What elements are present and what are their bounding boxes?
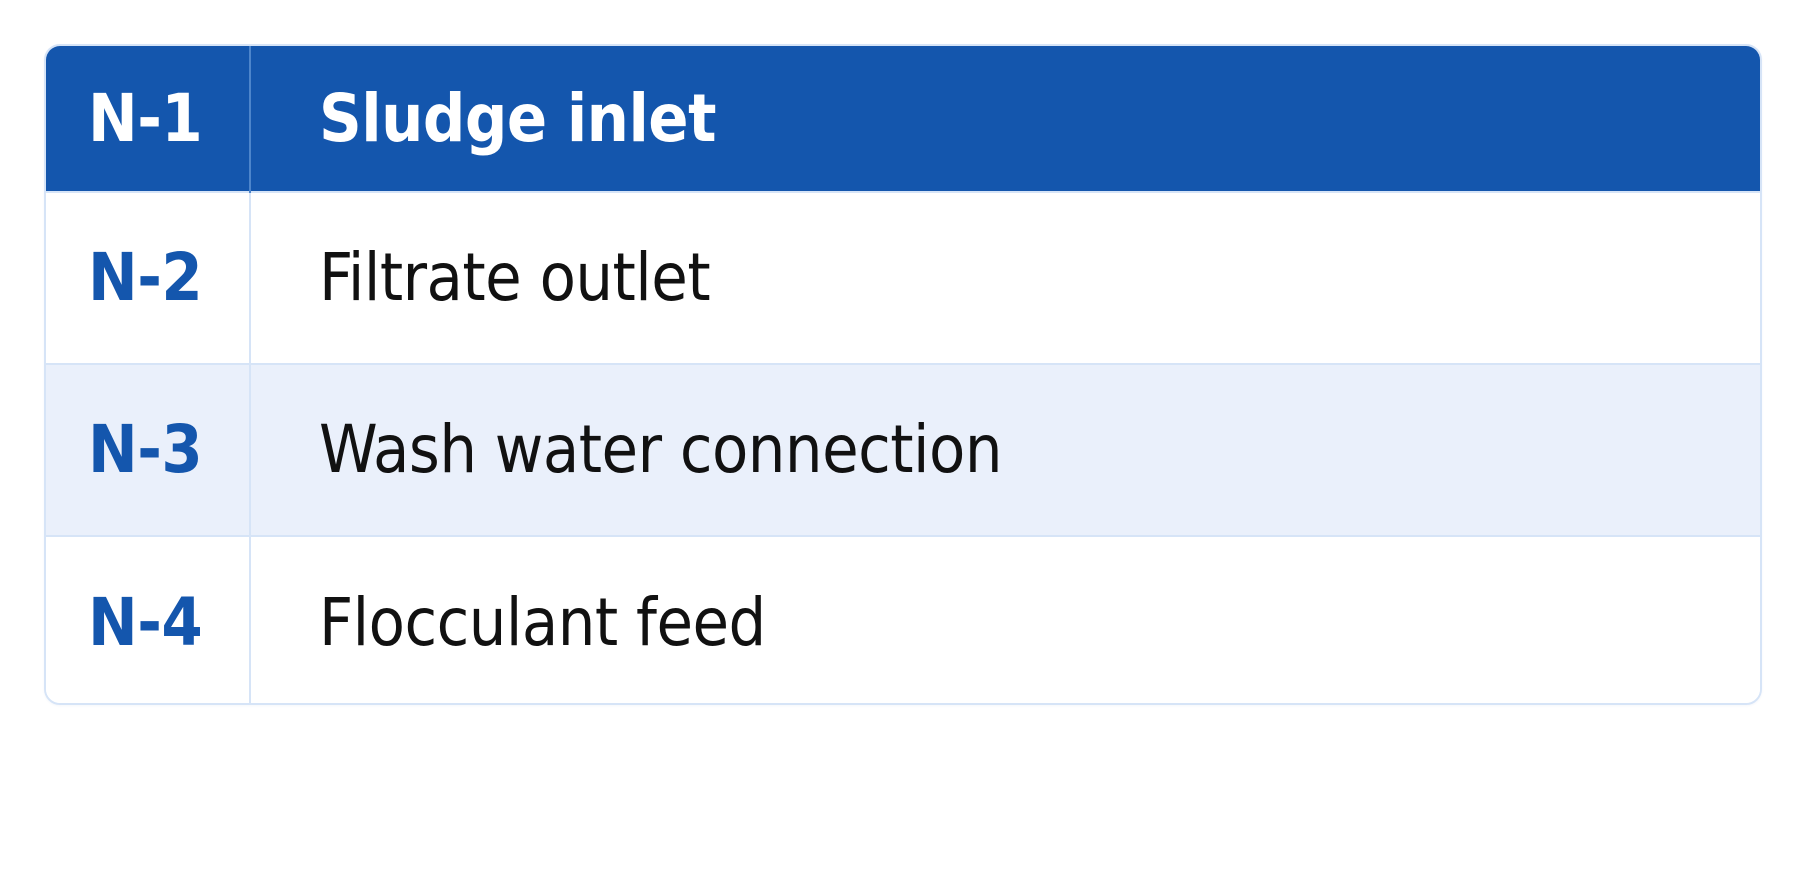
table-header-row: N-1 Sludge inlet [46, 46, 1760, 192]
cell-description: Flocculant feed [250, 536, 1760, 705]
cell-description: Filtrate outlet [250, 192, 1760, 364]
cell-tag: N-3 [46, 364, 250, 536]
description-label: Wash water connection [319, 417, 1760, 483]
tag-label: N-3 [88, 417, 249, 483]
header-cell-description: Sludge inlet [250, 46, 1760, 192]
description-label: Flocculant feed [319, 590, 1760, 656]
table-row: N-3 Wash water connection [46, 364, 1760, 536]
header-cell-tag: N-1 [46, 46, 250, 192]
header-description-label: Sludge inlet [319, 86, 1760, 152]
header-tag-label: N-1 [88, 86, 249, 152]
cell-tag: N-2 [46, 192, 250, 364]
description-label: Filtrate outlet [319, 245, 1760, 311]
tag-label: N-2 [88, 245, 249, 311]
nozzle-table-grid: N-1 Sludge inlet N-2 Filtrate outlet N-3 [46, 46, 1760, 705]
table-row: N-4 Flocculant feed [46, 536, 1760, 705]
tag-label: N-4 [88, 590, 249, 656]
cell-tag: N-4 [46, 536, 250, 705]
nozzle-schedule-table: N-1 Sludge inlet N-2 Filtrate outlet N-3 [44, 44, 1762, 705]
table-row: N-2 Filtrate outlet [46, 192, 1760, 364]
cell-description: Wash water connection [250, 364, 1760, 536]
table-body: N-1 Sludge inlet N-2 Filtrate outlet N-3 [46, 46, 1760, 705]
